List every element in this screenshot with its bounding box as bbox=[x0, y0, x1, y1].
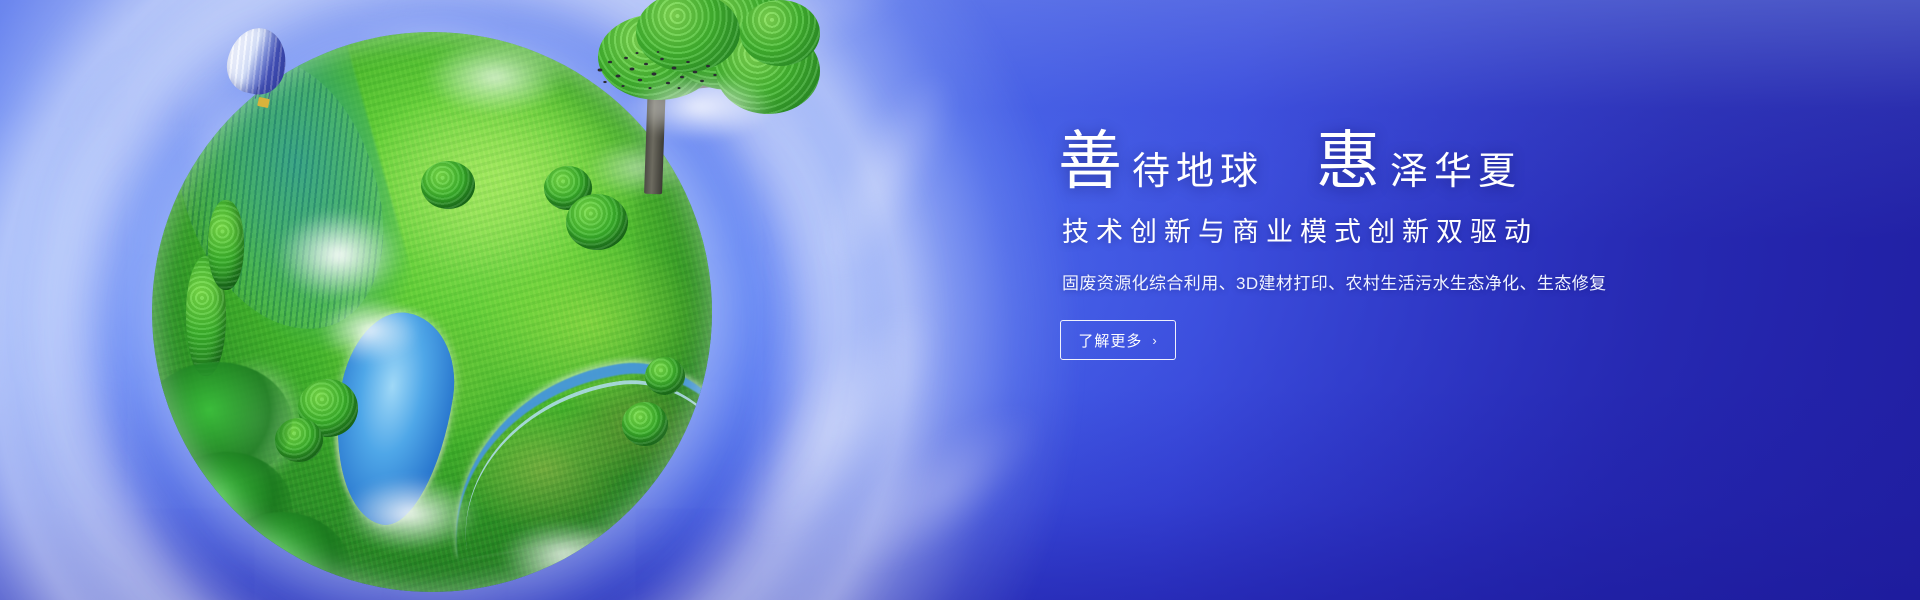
tree-clump bbox=[421, 161, 475, 209]
headline-rest-1: 待地球 bbox=[1132, 153, 1264, 194]
tree-canopy bbox=[740, 0, 820, 66]
surface-cloud bbox=[309, 290, 429, 370]
hero-banner: 善 待地球 惠 泽华夏 技术创新与商业模式创新双驱动 固废资源化综合利用、3D建… bbox=[0, 0, 1920, 600]
tree-clump bbox=[622, 402, 668, 446]
surface-cloud bbox=[488, 514, 638, 592]
tree-clump bbox=[645, 357, 685, 395]
surface-cloud bbox=[331, 469, 491, 559]
headline-rest-2: 泽华夏 bbox=[1390, 153, 1522, 194]
headline-char-2: 惠 bbox=[1316, 130, 1380, 194]
surface-cloud bbox=[410, 32, 580, 122]
learn-more-label: 了解更多 bbox=[1078, 330, 1142, 351]
tree-icon bbox=[590, 0, 820, 212]
headline: 善 待地球 惠 泽华夏 bbox=[1058, 130, 1698, 194]
hot-air-balloon-icon bbox=[228, 28, 298, 138]
balloon-basket bbox=[257, 97, 270, 108]
subtitle: 技术创新与商业模式创新双驱动 bbox=[1062, 210, 1698, 249]
hero-content: 善 待地球 惠 泽华夏 技术创新与商业模式创新双驱动 固废资源化综合利用、3D建… bbox=[1058, 130, 1698, 360]
tree-clump bbox=[208, 200, 244, 290]
learn-more-button[interactable]: 了解更多 › bbox=[1060, 320, 1176, 360]
chevron-right-icon: › bbox=[1152, 333, 1157, 348]
description: 固废资源化综合利用、3D建材打印、农村生活污水生态净化、生态修复 bbox=[1062, 269, 1698, 294]
headline-char-1: 善 bbox=[1058, 130, 1122, 194]
bird-flock-icon bbox=[592, 50, 722, 94]
